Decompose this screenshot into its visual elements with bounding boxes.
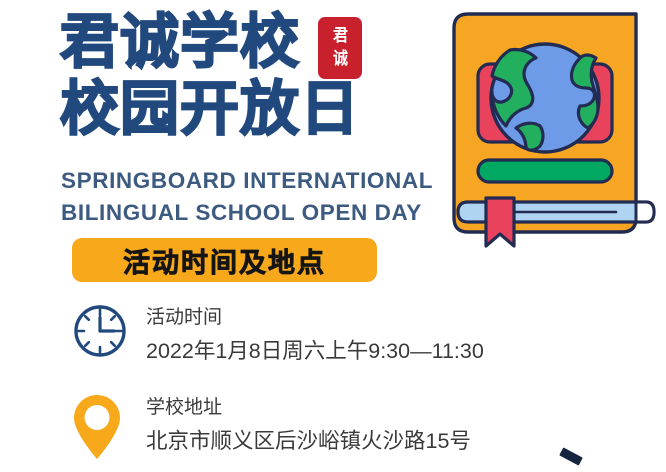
- info-label-address: 学校地址: [146, 395, 471, 421]
- clock-icon: [72, 303, 128, 359]
- map-pin-icon: [72, 393, 128, 461]
- seal-stamp: 君 诚: [318, 17, 362, 79]
- info-text-address: 学校地址 北京市顺义区后沙峪镇火沙路15号: [146, 393, 471, 457]
- info-label-time: 活动时间: [146, 305, 484, 331]
- info-value-address: 北京市顺义区后沙峪镇火沙路15号: [146, 426, 471, 457]
- info-row-address: 学校地址 北京市顺义区后沙峪镇火沙路15号: [72, 393, 471, 461]
- poster-canvas: 君诚学校 校园开放日 君 诚 SPRINGBOARD INTERNATIONAL…: [0, 0, 666, 472]
- info-text-time: 活动时间 2022年1月8日周六上午9:30—11:30: [146, 303, 484, 367]
- info-row-time: 活动时间 2022年1月8日周六上午9:30—11:30: [72, 303, 484, 367]
- subtitle-line-2: BILINGUAL SCHOOL OPEN DAY: [61, 197, 433, 229]
- section-banner: 活动时间及地点: [72, 238, 377, 282]
- section-banner-label: 活动时间及地点: [123, 241, 326, 280]
- seal-char-bottom: 诚: [333, 51, 348, 68]
- book-with-globe-icon: [440, 6, 666, 251]
- seal-char-top: 君: [333, 28, 348, 45]
- title-line-2: 校园开放日: [60, 79, 390, 140]
- corner-mark: [559, 447, 583, 465]
- subtitle: SPRINGBOARD INTERNATIONAL BILINGUAL SCHO…: [61, 165, 433, 229]
- info-value-time: 2022年1月8日周六上午9:30—11:30: [146, 336, 484, 367]
- subtitle-line-1: SPRINGBOARD INTERNATIONAL: [61, 165, 433, 197]
